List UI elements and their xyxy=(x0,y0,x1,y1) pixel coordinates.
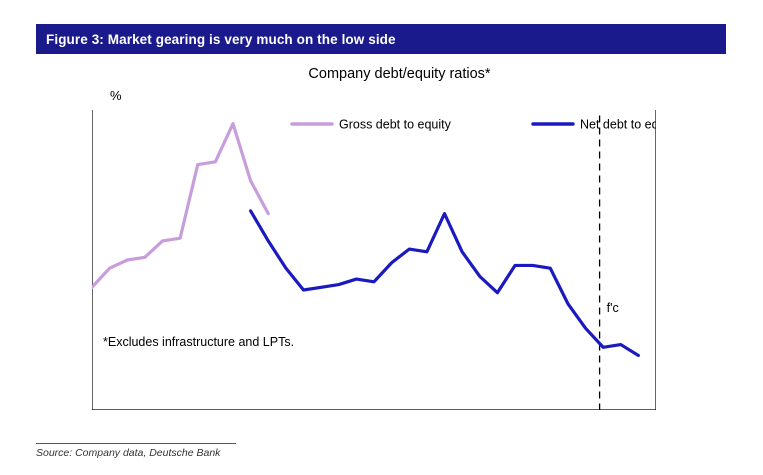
legend-item: Net debt to equity xyxy=(533,118,656,132)
chart-subtitle: Company debt/equity ratios* xyxy=(0,66,763,82)
chart-canvas: 0010102020303040405050606070708080909010… xyxy=(92,110,656,410)
chart-subtitle-text: Company debt/equity ratios* xyxy=(308,66,490,82)
legend-label: Net debt to equity xyxy=(580,118,656,132)
legend-item: Gross debt to equity xyxy=(292,118,452,132)
plot-area: 0010102020303040405050606070708080909010… xyxy=(92,110,656,410)
forecast-label: f'c xyxy=(607,301,619,315)
chart-footnote: *Excludes infrastructure and LPTs. xyxy=(103,335,294,349)
figure-container: Figure 3: Market gearing is very much on… xyxy=(0,0,763,475)
source-text: Source: Company data, Deutsche Bank xyxy=(36,447,220,459)
figure-title: Figure 3: Market gearing is very much on… xyxy=(36,32,396,47)
series-line-gross-debt-to-equity xyxy=(92,124,268,288)
figure-title-bar: Figure 3: Market gearing is very much on… xyxy=(36,24,726,54)
series-line-net-debt-to-equity xyxy=(251,211,639,356)
source-divider xyxy=(36,443,236,444)
legend-label: Gross debt to equity xyxy=(339,118,452,132)
y-axis-unit-label: % xyxy=(110,88,122,103)
